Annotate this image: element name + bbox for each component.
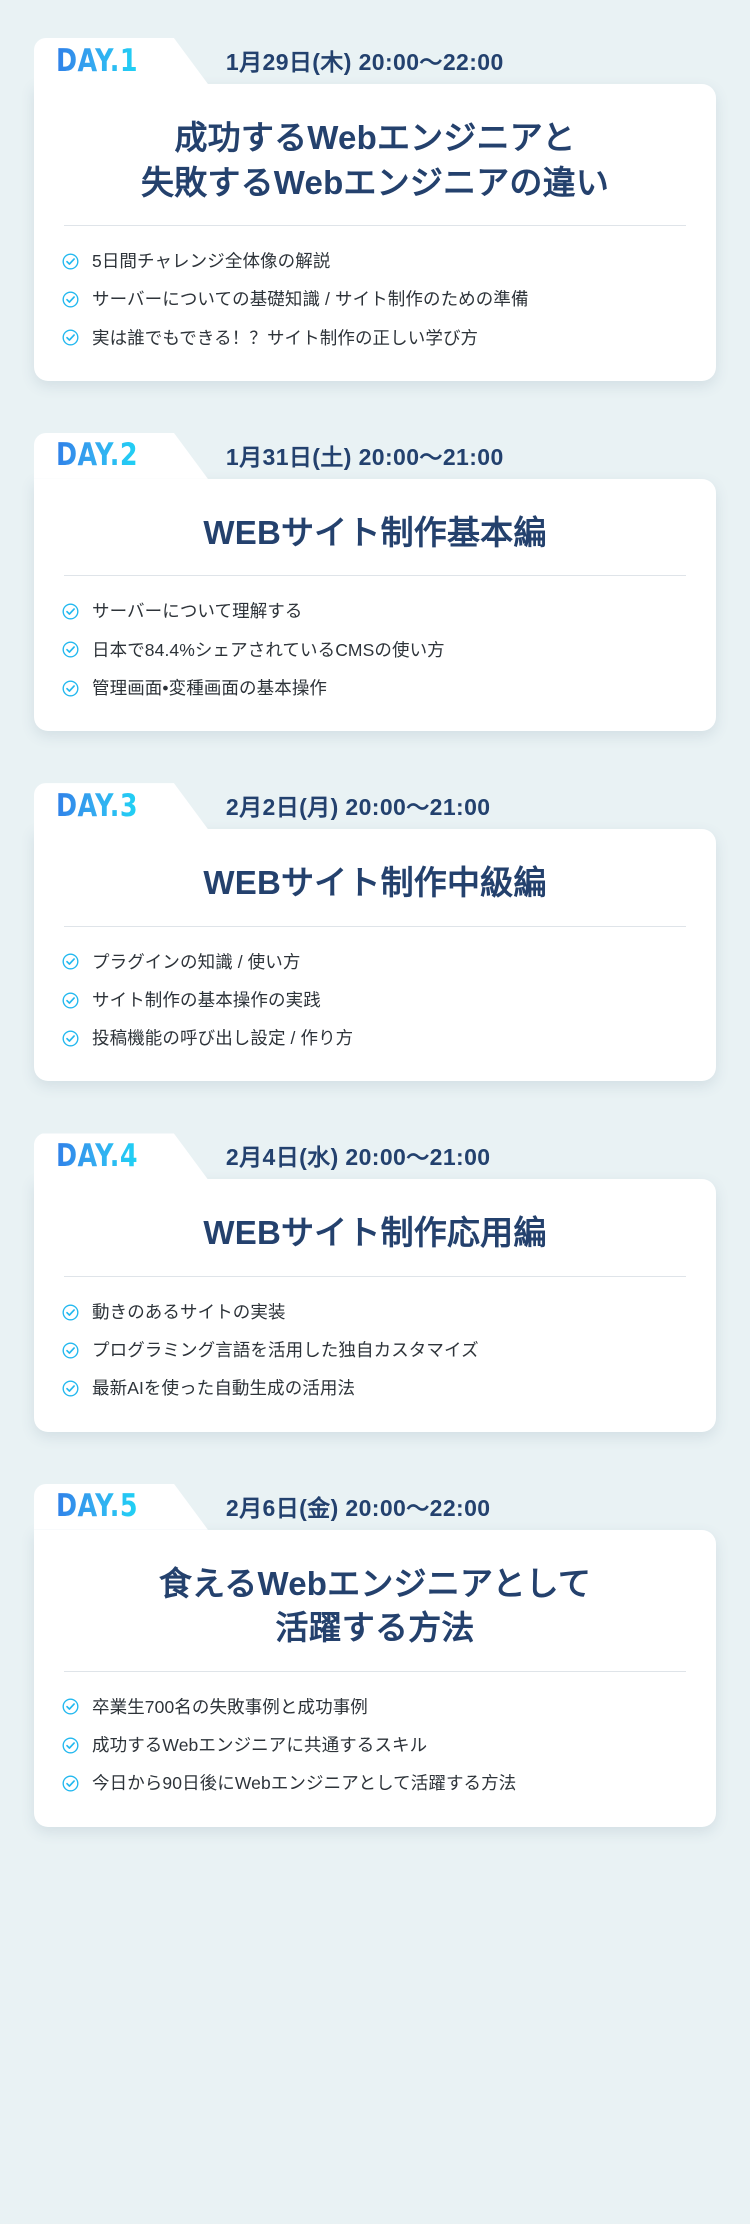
day-header: DAY.11月29日(木) 20:00〜22:00 (34, 38, 716, 84)
day-date: 2月2日(月) 20:00〜21:00 (226, 788, 491, 829)
day-tab-label: DAY.2 (56, 440, 138, 471)
topic-label: 今日から90日後にWebエンジニアとして活躍する方法 (92, 1770, 516, 1796)
list-item: プラグインの知識 / 使い方 (60, 943, 690, 981)
day-block: DAY.32月2日(月) 20:00〜21:00WEBサイト制作中級編プラグイン… (34, 783, 716, 1081)
day-title-line: WEBサイト制作中級編 (64, 861, 686, 906)
topic-label: サーバーについて理解する (92, 598, 303, 624)
day-tab-label: DAY.1 (56, 46, 138, 77)
check-circle-icon (62, 1304, 79, 1321)
day-card: 成功するWebエンジニアと失敗するWebエンジニアの違い5日間チャレンジ全体像の… (34, 84, 716, 381)
topic-label: 成功するWebエンジニアに共通するスキル (92, 1732, 427, 1758)
day-block: DAY.11月29日(木) 20:00〜22:00成功するWebエンジニアと失敗… (34, 38, 716, 381)
day-title: WEBサイト制作応用編 (60, 1205, 690, 1256)
list-item: 最新AIを使った自動生成の活用法 (60, 1369, 690, 1407)
day-card: 食えるWebエンジニアとして活躍する方法卒業生700名の失敗事例と成功事例成功す… (34, 1530, 716, 1827)
list-item: サイト制作の基本操作の実践 (60, 981, 690, 1019)
check-circle-icon (62, 1380, 79, 1397)
list-item: サーバーについての基礎知識 / サイト制作のための準備 (60, 280, 690, 318)
day-title: 成功するWebエンジニアと失敗するWebエンジニアの違い (60, 110, 690, 205)
day-list: DAY.11月29日(木) 20:00〜22:00成功するWebエンジニアと失敗… (34, 38, 716, 1827)
day-title: WEBサイト制作中級編 (60, 855, 690, 906)
topic-label: 動きのあるサイトの実装 (92, 1299, 286, 1325)
list-item: サーバーについて理解する (60, 592, 690, 630)
day-header: DAY.52月6日(金) 20:00〜22:00 (34, 1484, 716, 1530)
topic-label: 管理画面•変種画面の基本操作 (92, 675, 327, 701)
title-divider (64, 1671, 686, 1672)
day-title: WEBサイト制作基本編 (60, 505, 690, 556)
day-tab[interactable]: DAY.5 (34, 1484, 208, 1530)
check-circle-icon (62, 603, 79, 620)
day-tab-label: DAY.5 (56, 1491, 138, 1522)
topic-label: サーバーについての基礎知識 / サイト制作のための準備 (92, 286, 529, 312)
day-card: WEBサイト制作中級編プラグインの知識 / 使い方サイト制作の基本操作の実践投稿… (34, 829, 716, 1081)
list-item: 5日間チャレンジ全体像の解説 (60, 242, 690, 280)
day-block: DAY.52月6日(金) 20:00〜22:00食えるWebエンジニアとして活躍… (34, 1484, 716, 1827)
topic-label: 投稿機能の呼び出し設定 / 作り方 (92, 1025, 353, 1051)
day-title-line: 成功するWebエンジニアと (64, 116, 686, 161)
list-item: 投稿機能の呼び出し設定 / 作り方 (60, 1019, 690, 1057)
day-date: 1月31日(土) 20:00〜21:00 (226, 438, 504, 479)
day-tab[interactable]: DAY.4 (34, 1133, 208, 1179)
day-tab-label: DAY.4 (56, 1141, 138, 1172)
topic-label: 日本で84.4%シェアされているCMSの使い方 (92, 637, 445, 663)
check-circle-icon (62, 329, 79, 346)
check-circle-icon (62, 291, 79, 308)
day-tab-label: DAY.3 (56, 791, 138, 822)
check-circle-icon (62, 953, 79, 970)
day-title-line: WEBサイト制作基本編 (64, 511, 686, 556)
check-circle-icon (62, 1342, 79, 1359)
topic-list: 動きのあるサイトの実装プログラミング言語を活用した独自カスタマイズ最新AIを使っ… (60, 1293, 690, 1408)
title-divider (64, 575, 686, 576)
title-divider (64, 926, 686, 927)
day-title-line: 失敗するWebエンジニアの違い (64, 161, 686, 206)
check-circle-icon (62, 1030, 79, 1047)
day-card: WEBサイト制作基本編サーバーについて理解する日本で84.4%シェアされているC… (34, 479, 716, 731)
title-divider (64, 1276, 686, 1277)
day-tab[interactable]: DAY.1 (34, 38, 208, 84)
topic-label: サイト制作の基本操作の実践 (92, 987, 321, 1013)
topic-list: プラグインの知識 / 使い方サイト制作の基本操作の実践投稿機能の呼び出し設定 /… (60, 943, 690, 1058)
list-item: プログラミング言語を活用した独自カスタマイズ (60, 1331, 690, 1369)
check-circle-icon (62, 1737, 79, 1754)
topic-label: プラグインの知識 / 使い方 (92, 949, 301, 975)
day-title: 食えるWebエンジニアとして活躍する方法 (60, 1556, 690, 1651)
check-circle-icon (62, 1775, 79, 1792)
check-circle-icon (62, 253, 79, 270)
list-item: 管理画面•変種画面の基本操作 (60, 669, 690, 707)
topic-label: プログラミング言語を活用した独自カスタマイズ (92, 1337, 479, 1363)
day-header: DAY.32月2日(月) 20:00〜21:00 (34, 783, 716, 829)
day-header: DAY.42月4日(水) 20:00〜21:00 (34, 1133, 716, 1179)
check-circle-icon (62, 680, 79, 697)
list-item: 実は誰でもできる！？サイト制作の正しい学び方 (60, 319, 690, 357)
day-tab[interactable]: DAY.3 (34, 783, 208, 829)
topic-label: 最新AIを使った自動生成の活用法 (92, 1375, 355, 1401)
day-tab[interactable]: DAY.2 (34, 433, 208, 479)
topic-label: 卒業生700名の失敗事例と成功事例 (92, 1694, 368, 1720)
title-divider (64, 225, 686, 226)
check-circle-icon (62, 641, 79, 658)
list-item: 成功するWebエンジニアに共通するスキル (60, 1726, 690, 1764)
check-circle-icon (62, 1698, 79, 1715)
day-block: DAY.42月4日(水) 20:00〜21:00WEBサイト制作応用編動きのある… (34, 1133, 716, 1431)
day-title-line: 食えるWebエンジニアとして (64, 1562, 686, 1607)
list-item: 動きのあるサイトの実装 (60, 1293, 690, 1331)
topic-label: 実は誰でもできる！？サイト制作の正しい学び方 (92, 325, 478, 351)
topic-label: 5日間チャレンジ全体像の解説 (92, 248, 330, 274)
day-date: 2月4日(水) 20:00〜21:00 (226, 1138, 491, 1179)
day-date: 2月6日(金) 20:00〜22:00 (226, 1489, 491, 1530)
schedule-page: DAY.11月29日(木) 20:00〜22:00成功するWebエンジニアと失敗… (0, 0, 750, 2224)
list-item: 今日から90日後にWebエンジニアとして活躍する方法 (60, 1764, 690, 1802)
topic-list: 5日間チャレンジ全体像の解説サーバーについての基礎知識 / サイト制作のための準… (60, 242, 690, 357)
day-card: WEBサイト制作応用編動きのあるサイトの実装プログラミング言語を活用した独自カス… (34, 1179, 716, 1431)
topic-list: サーバーについて理解する日本で84.4%シェアされているCMSの使い方管理画面•… (60, 592, 690, 707)
day-block: DAY.21月31日(土) 20:00〜21:00WEBサイト制作基本編サーバー… (34, 433, 716, 731)
day-header: DAY.21月31日(土) 20:00〜21:00 (34, 433, 716, 479)
day-date: 1月29日(木) 20:00〜22:00 (226, 43, 504, 84)
list-item: 日本で84.4%シェアされているCMSの使い方 (60, 631, 690, 669)
day-title-line: WEBサイト制作応用編 (64, 1211, 686, 1256)
topic-list: 卒業生700名の失敗事例と成功事例成功するWebエンジニアに共通するスキル今日か… (60, 1688, 690, 1803)
list-item: 卒業生700名の失敗事例と成功事例 (60, 1688, 690, 1726)
day-title-line: 活躍する方法 (64, 1606, 686, 1651)
check-circle-icon (62, 992, 79, 1009)
